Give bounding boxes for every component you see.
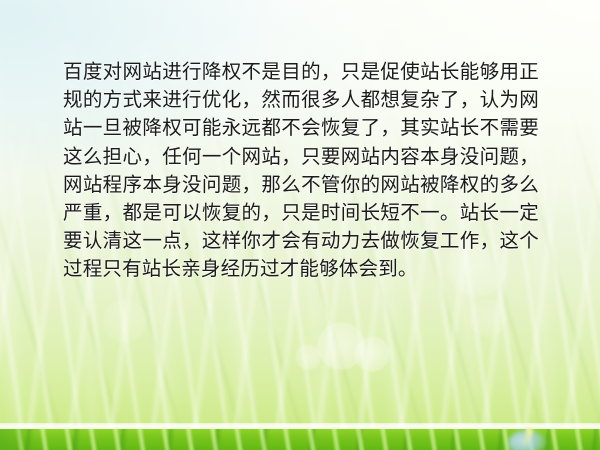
bottom-band-shadow: [0, 429, 40, 450]
slide-canvas: 百度对网站进行降权不是目的，只是促使站长能够用正规的方式来进行优化，然而很多人都…: [0, 0, 600, 450]
body-paragraph: 百度对网站进行降权不是目的，只是促使站长能够用正规的方式来进行优化，然而很多人都…: [63, 58, 539, 284]
